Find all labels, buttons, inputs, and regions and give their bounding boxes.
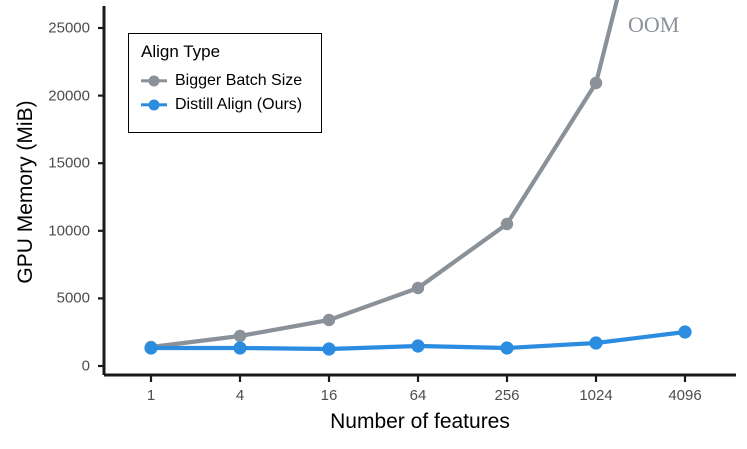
legend: Align Type Bigger Batch Size Distill Ali… bbox=[128, 33, 322, 133]
legend-item-distill-align[interactable]: Distill Align (Ours) bbox=[141, 93, 311, 117]
legend-title: Align Type bbox=[141, 42, 311, 62]
x-tick-label-1024: 1024 bbox=[579, 387, 612, 404]
y-axis-title: GPU Memory (MiB) bbox=[14, 32, 38, 352]
x-tick-label-4: 4 bbox=[236, 387, 244, 404]
legend-label-bigger-batch-size: Bigger Batch Size bbox=[175, 72, 302, 90]
gpu-memory-line-chart: 25000 20000 15000 10000 5000 0 1 4 16 64… bbox=[0, 0, 747, 449]
legend-label-distill-align: Distill Align (Ours) bbox=[175, 96, 302, 114]
y-tick-label-0: 0 bbox=[10, 358, 90, 375]
legend-key-bigger-batch-size bbox=[141, 70, 167, 92]
legend-item-bigger-batch-size[interactable]: Bigger Batch Size bbox=[141, 69, 311, 93]
oom-annotation-label: OOM bbox=[628, 12, 679, 38]
x-tick-label-64: 64 bbox=[410, 387, 427, 404]
x-tick-label-256: 256 bbox=[494, 387, 519, 404]
x-tick-label-1: 1 bbox=[147, 387, 155, 404]
legend-key-distill-align bbox=[141, 94, 167, 116]
x-tick-label-4096: 4096 bbox=[668, 387, 701, 404]
plot-area bbox=[0, 0, 747, 449]
x-tick-label-16: 16 bbox=[321, 387, 338, 404]
x-axis-title: Number of features bbox=[104, 410, 736, 434]
